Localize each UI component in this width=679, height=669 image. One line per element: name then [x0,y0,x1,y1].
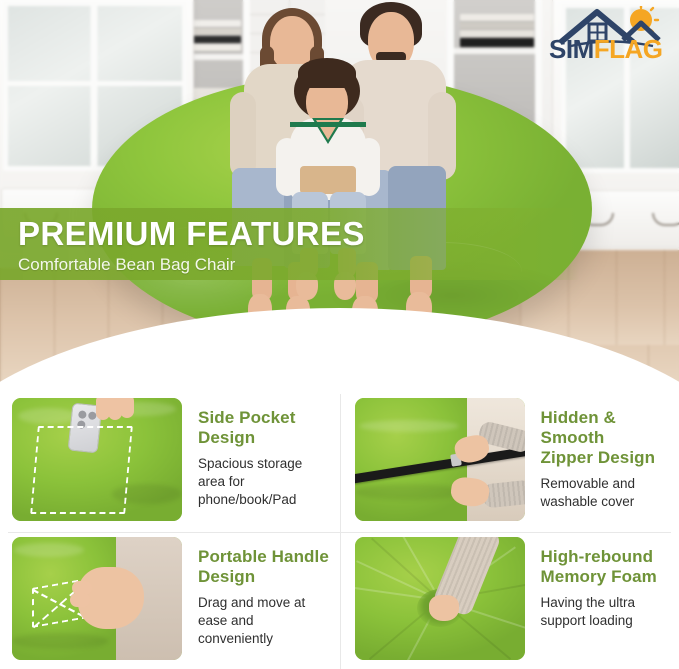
feature-desc: Having the ultra support loading [541,594,662,630]
premium-features-banner: PREMIUM FEATURES Comfortable Bean Bag Ch… [0,208,580,280]
feature-title: Portable Handle Design [198,547,330,587]
feature-title: High-rebound Memory Foam [541,547,662,587]
feature-card-hidden-zipper: Hidden & Smooth Zipper Design Removable … [340,394,672,532]
feature-card-portable-handle: Portable Handle Design Drag and move at … [8,533,340,669]
feature-thumb-memory-foam [355,537,525,660]
feature-card-side-pocket: Side Pocket Design Spacious storage area… [8,394,340,532]
feature-thumb-hidden-zipper [355,398,525,521]
hero-section: PREMIUM FEATURES Comfortable Bean Bag Ch… [0,0,679,388]
logo-text-flag: FLAG [594,34,663,64]
features-row-1: Side Pocket Design Spacious storage area… [8,394,671,532]
features-grid: Side Pocket Design Spacious storage area… [0,388,679,669]
feature-desc: Removable and washable cover [541,475,662,511]
feature-card-memory-foam: High-rebound Memory Foam Having the ultr… [340,533,672,669]
family-group [238,0,468,330]
features-row-2: Portable Handle Design Drag and move at … [8,532,671,669]
logo-text-sim: SIM [549,34,594,64]
brand-logo[interactable]: SIMFLAG [549,6,671,68]
feature-desc: Drag and move at ease and conveniently [198,594,330,648]
banner-title: PREMIUM FEATURES [18,215,580,253]
product-feature-infographic: PREMIUM FEATURES Comfortable Bean Bag Ch… [0,0,679,669]
feature-thumb-portable-handle [12,537,182,660]
feature-thumb-side-pocket [12,398,182,521]
banner-subtitle: Comfortable Bean Bag Chair [18,253,580,277]
feature-desc: Spacious storage area for phone/book/Pad [198,455,330,509]
feature-title: Side Pocket Design [198,408,330,448]
pocket-outline [30,426,133,514]
feature-title: Hidden & Smooth Zipper Design [541,408,662,468]
fist-pressing [429,595,459,621]
